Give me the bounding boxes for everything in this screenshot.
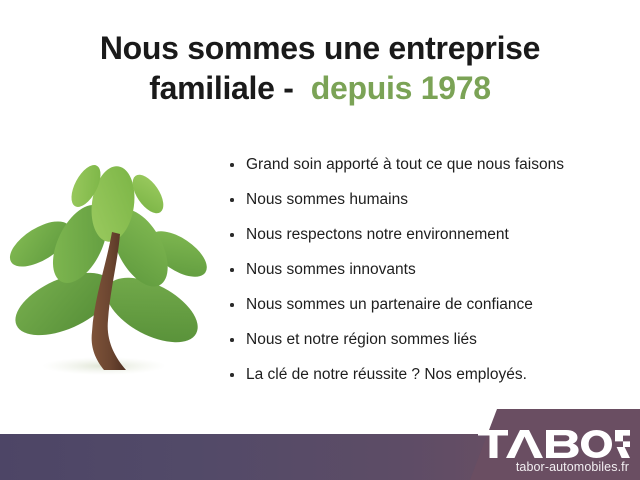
- page-title-dash: -: [283, 70, 293, 106]
- list-item: Nous sommes humains: [228, 187, 628, 222]
- bullet-icon: [230, 163, 234, 167]
- page-title-accent: depuis 1978: [311, 70, 491, 106]
- slide-canvas: Nous sommes une entreprise familiale - d…: [0, 0, 640, 480]
- page-title-line-1: Nous sommes une entreprise: [0, 28, 640, 68]
- tabor-wordmark-icon: [478, 430, 630, 458]
- page-title: Nous sommes une entreprise familiale - d…: [0, 28, 640, 108]
- brand-logo[interactable]: tabor-automobiles.fr: [464, 430, 630, 474]
- list-item-label: Nous respectons notre environnement: [246, 226, 509, 243]
- page-title-line-2: familiale - depuis 1978: [0, 68, 640, 108]
- list-item-label: Grand soin apporté à tout ce que nous fa…: [246, 156, 564, 173]
- bullet-icon: [230, 233, 234, 237]
- list-item: La clé de notre réussite ? Nos employés.: [228, 362, 628, 397]
- list-item-label: Nous sommes innovants: [246, 261, 416, 278]
- bullet-icon: [230, 338, 234, 342]
- list-item-label: Nous sommes un partenaire de confiance: [246, 296, 533, 313]
- bullet-icon: [230, 303, 234, 307]
- brand-tagline: tabor-automobiles.fr: [464, 460, 630, 474]
- bullet-icon: [230, 268, 234, 272]
- list-item-label: Nous sommes humains: [246, 191, 408, 208]
- bullet-icon: [230, 373, 234, 377]
- list-item: Nous et notre région sommes liés: [228, 327, 628, 362]
- list-item: Nous respectons notre environnement: [228, 222, 628, 257]
- list-item: Nous sommes un partenaire de confiance: [228, 292, 628, 327]
- footer: tabor-automobiles.fr: [0, 400, 640, 480]
- list-item: Grand soin apporté à tout ce que nous fa…: [228, 152, 628, 187]
- page-title-line-2-main: familiale: [149, 70, 274, 106]
- values-list: Grand soin apporté à tout ce que nous fa…: [228, 152, 628, 397]
- bullet-icon: [230, 198, 234, 202]
- family-tree-illustration: [8, 148, 218, 382]
- list-item-label: La clé de notre réussite ? Nos employés.: [246, 366, 527, 383]
- list-item-label: Nous et notre région sommes liés: [246, 331, 477, 348]
- list-item: Nous sommes innovants: [228, 257, 628, 292]
